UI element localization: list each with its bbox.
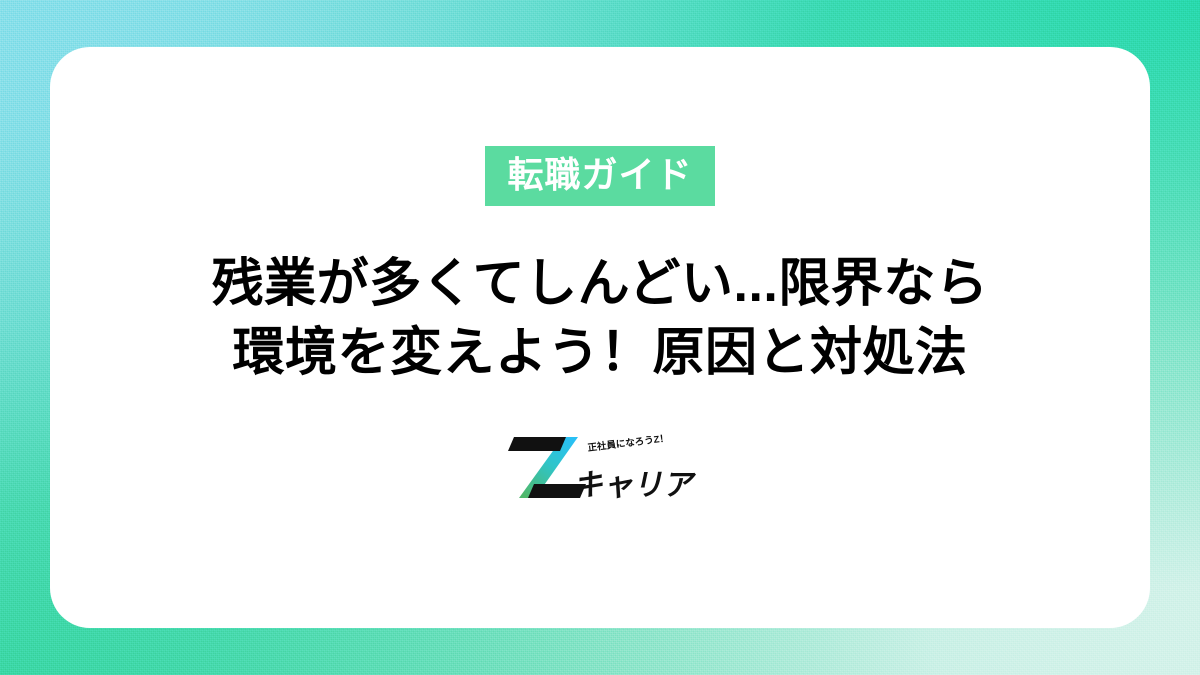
page-title: 残業が多くてしんどい...限界なら 環境を変えよう！原因と対処法 [212, 250, 989, 387]
page-title-line-2: 環境を変えよう！原因と対処法 [212, 319, 989, 388]
logo-tagline: 正社員になろうZ！ [587, 432, 670, 454]
page-title-line-1: 残業が多くてしんどい...限界なら [212, 250, 989, 319]
logo-z-top-bar [508, 437, 566, 451]
content-card: 転職ガイド 残業が多くてしんどい...限界なら 環境を変えよう！原因と対処法 [50, 47, 1150, 628]
category-badge: 転職ガイド [485, 146, 714, 206]
logo-wordmark: キャリア [572, 470, 699, 503]
brand-logo: 正社員になろうZ！ キャリア [500, 425, 700, 505]
brand-logo-svg: 正社員になろうZ！ キャリア [500, 425, 700, 505]
slide-canvas: 転職ガイド 残業が多くてしんどい...限界なら 環境を変えよう！原因と対処法 [0, 0, 1200, 675]
